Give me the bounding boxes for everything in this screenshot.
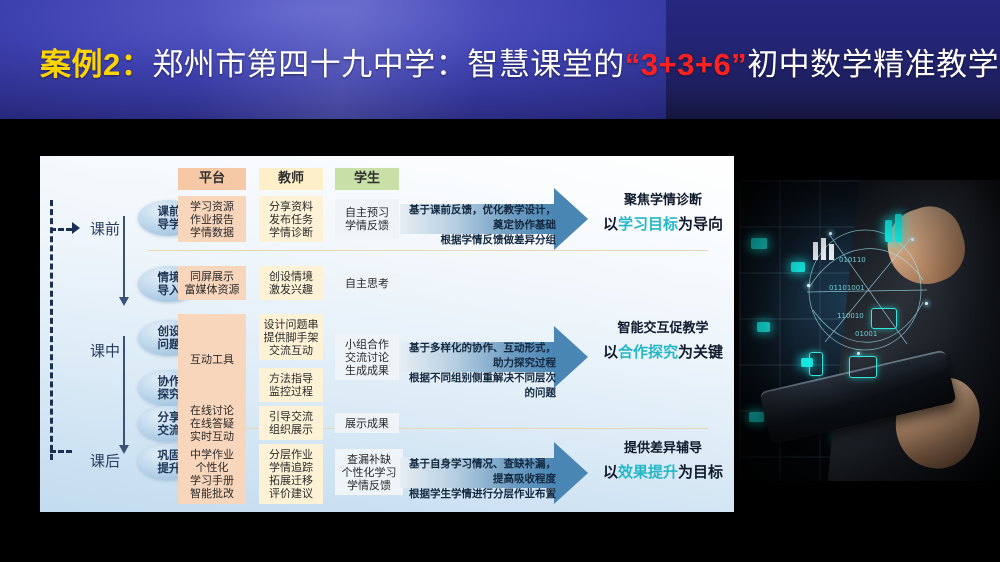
cell-daoxue-platform: 学习资源 作业报告 学情数据 (178, 196, 246, 242)
column-header-platform: 平台 (178, 168, 246, 190)
annotation-pre-highlight: 学习目标 (618, 215, 678, 233)
flow-arrow-pre-to-mid (123, 216, 125, 298)
column-header-student: 学生 (335, 168, 399, 190)
title-main-before: 郑州市第四十九中学：智慧课堂的 (152, 47, 625, 82)
phase-rail (50, 200, 53, 460)
cell-qingjing-platform: 同屏展示 富媒体资源 (178, 266, 246, 300)
annotation-post-title: 提供差异辅导 (588, 440, 734, 458)
insight-arrow-pre: 基于课前反馈，优化教学设计，奠定协作基础 根据学情反馈做差异分组 (400, 188, 588, 250)
cell-fenxiang-student: 展示成果 (335, 413, 399, 433)
arrow-text-post: 基于自身学习情况、查缺补漏，提高吸收程度 根据学生学情进行分层作业布置 (404, 457, 556, 502)
arrow-text-pre: 基于课前反馈，优化教学设计，奠定协作基础 根据学情反馈做差异分组 (404, 203, 556, 248)
annotation-post-lead: 以 (603, 463, 618, 481)
title-main-after: 初中数学精准教学模式 (747, 47, 1000, 82)
cell-fenxiang-teacher: 引导交流 组织展示 (259, 406, 323, 440)
annotation-mid-highlight: 合作探究 (618, 343, 678, 361)
annotation-mid-tail: 为关键 (678, 343, 723, 361)
annotation-pre-slogan: 以学习目标为导向 (588, 213, 734, 235)
cell-chuangshe-teacher: 设计问题串 提供脚手架 交流互动 (259, 314, 323, 360)
title-highlight: “3+3+6” (625, 47, 747, 82)
cell-qingjing-teacher: 创设情境 激发兴趣 (259, 266, 323, 300)
column-header-teacher: 教师 (259, 168, 323, 190)
annotation-pre: 聚焦学情诊断 以学习目标为导向 (588, 192, 734, 235)
cell-daoxue-teacher: 分享资料 发布任务 学情诊断 (259, 196, 323, 242)
insight-arrow-post: 基于自身学习情况、查缺补漏，提高吸收程度 根据学生学情进行分层作业布置 (400, 442, 588, 504)
annotation-pre-tail: 为导向 (678, 215, 723, 233)
arrow-tip-icon (554, 188, 588, 250)
arrow-text-mid: 基于多样化的协作、互动形式，助力探究过程 根据不同组别侧重解决不同层次的问题 (404, 341, 556, 401)
cell-interactive-tool: 互动工具 (178, 314, 246, 404)
annotation-post-highlight: 效果提升 (618, 463, 678, 481)
flow-arrow-mid-to-post (123, 336, 125, 446)
cell-midgroup-student: 小组合作 交流讨论 生成成果 (335, 334, 399, 380)
insight-arrow-mid: 基于多样化的协作、互动形式，助力探究过程 根据不同组别侧重解决不同层次的问题 (400, 326, 588, 388)
cell-gonggu-teacher: 分层作业 学情追踪 拓展迁移 评价建议 (259, 444, 323, 504)
rail-tick-top (50, 228, 72, 231)
cell-gonggu-student: 查漏补缺 个性化学习 学情反馈 (335, 449, 403, 495)
rail-tick-bottom (50, 450, 72, 453)
annotation-mid-lead: 以 (603, 343, 618, 361)
page-title: 案例2：郑州市第四十九中学：智慧课堂的“3+3+6”初中数学精准教学模式 (40, 44, 1000, 86)
annotation-mid: 智能交互促教学 以合作探究为关键 (588, 320, 734, 363)
cell-qingjing-student: 自主思考 (335, 273, 399, 293)
annotation-post-tail: 为目标 (678, 463, 723, 481)
cell-gonggu-platform: 中学作业 个性化 学习手册 智能批改 (178, 444, 246, 504)
row-separator (148, 250, 708, 251)
arrow-tip-icon (554, 442, 588, 504)
arrow-tip-icon (554, 326, 588, 388)
annotation-pre-lead: 以 (603, 215, 618, 233)
title-case-label: 案例2： (40, 47, 152, 82)
cell-daoxue-student: 自主预习 学情反馈 (335, 199, 399, 239)
annotation-pre-title: 聚焦学情诊断 (588, 192, 734, 210)
slide: 案例2：郑州市第四十九中学：智慧课堂的“3+3+6”初中数学精准教学模式 010… (0, 0, 1000, 562)
photo-vignette (739, 180, 1000, 481)
teaching-model-diagram: 平台 教师 学生 课前 课中 课后 课前 导学 学习资源 作业报告 学情数据 分… (40, 156, 734, 512)
annotation-mid-slogan: 以合作探究为关键 (588, 341, 734, 363)
cell-xiezuo-teacher: 方法指导 监控过程 (259, 368, 323, 402)
tech-photo: 010110 01101001 110010 01001 (739, 180, 1000, 481)
annotation-post: 提供差异辅导 以效果提升为目标 (588, 440, 734, 483)
annotation-post-slogan: 以效果提升为目标 (588, 461, 734, 483)
cell-fenxiang-platform: 在线讨论 在线答疑 实时互动 (178, 400, 246, 446)
annotation-mid-title: 智能交互促教学 (588, 320, 734, 338)
